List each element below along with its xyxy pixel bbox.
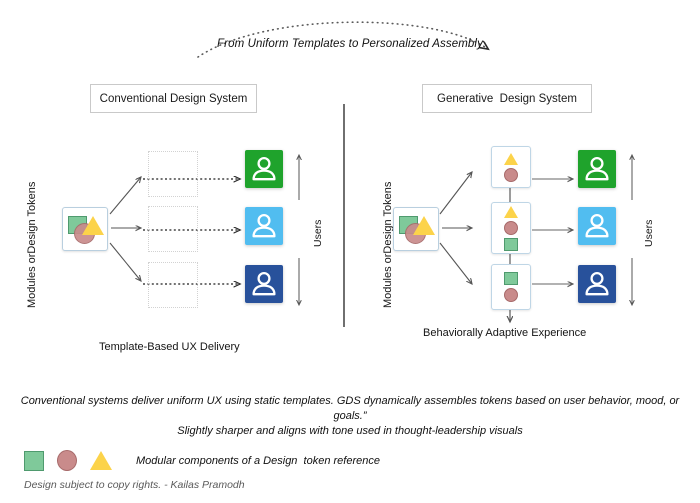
triangle-icon — [504, 153, 518, 165]
left-users-axis-label: Users — [312, 220, 324, 247]
right-users-axis-label: Users — [643, 220, 655, 247]
legend-triangle-icon — [90, 451, 112, 470]
right-user-avatar-light-blue[interactable] — [578, 207, 616, 245]
diagram-canvas: From Uniform Templates to Personalized A… — [0, 0, 700, 503]
template-placeholder-2[interactable] — [148, 206, 198, 252]
user-icon — [245, 265, 283, 303]
legend-label: Modular components of a Design token ref… — [136, 455, 380, 467]
left-user-avatar-dark-blue[interactable] — [245, 265, 283, 303]
user-icon — [578, 207, 616, 245]
right-token-source-card[interactable] — [393, 207, 439, 251]
template-placeholder-1[interactable] — [148, 151, 198, 197]
left-fanout-arrows — [110, 177, 141, 281]
right-user-avatar-green[interactable] — [578, 150, 616, 188]
triangle-icon — [82, 216, 104, 235]
triangle-icon — [504, 206, 518, 218]
square-icon — [504, 238, 518, 251]
right-panel-caption: Behaviorally Adaptive Experience — [423, 327, 586, 339]
right-delivery-arrows — [532, 179, 573, 284]
user-icon — [578, 265, 616, 303]
panel-title-generative-label: Generative Design System — [437, 93, 577, 105]
right-user-avatar-dark-blue[interactable] — [578, 265, 616, 303]
left-token-source-card[interactable] — [62, 207, 108, 251]
square-icon — [504, 272, 518, 285]
token-bundle-3[interactable] — [491, 264, 531, 310]
circle-icon — [504, 221, 518, 235]
legend-circle-icon — [57, 450, 77, 471]
token-bundle-2[interactable] — [491, 202, 531, 254]
left-user-avatar-light-blue[interactable] — [245, 207, 283, 245]
left-user-avatar-green[interactable] — [245, 150, 283, 188]
panel-title-conventional[interactable]: Conventional Design System — [90, 84, 257, 113]
user-icon — [245, 207, 283, 245]
left-panel-caption: Template-Based UX Delivery — [99, 341, 240, 353]
copyright-note: Design subject to copy rights. - Kailas … — [24, 479, 245, 491]
panel-title-generative[interactable]: Generative Design System — [422, 84, 592, 113]
narrative-line-1: Conventional systems deliver uniform UX … — [21, 395, 679, 422]
transition-arc-caption: From Uniform Templates to Personalized A… — [0, 38, 700, 50]
template-placeholder-3[interactable] — [148, 262, 198, 308]
user-icon — [245, 150, 283, 188]
user-icon — [578, 150, 616, 188]
right-fanout-arrows — [440, 172, 472, 284]
panel-title-conventional-label: Conventional Design System — [100, 93, 248, 105]
legend-square-icon — [24, 451, 44, 471]
narrative-line-2: Slightly sharper and aligns with tone us… — [177, 425, 523, 437]
token-bundle-1[interactable] — [491, 146, 531, 188]
legend: Modular components of a Design token ref… — [24, 450, 380, 471]
narrative-text: Conventional systems deliver uniform UX … — [14, 394, 686, 439]
left-modules-axis-label: Modules orDesign Tokens — [26, 182, 38, 308]
triangle-icon — [413, 216, 435, 235]
circle-icon — [504, 288, 518, 302]
circle-icon — [504, 168, 518, 182]
